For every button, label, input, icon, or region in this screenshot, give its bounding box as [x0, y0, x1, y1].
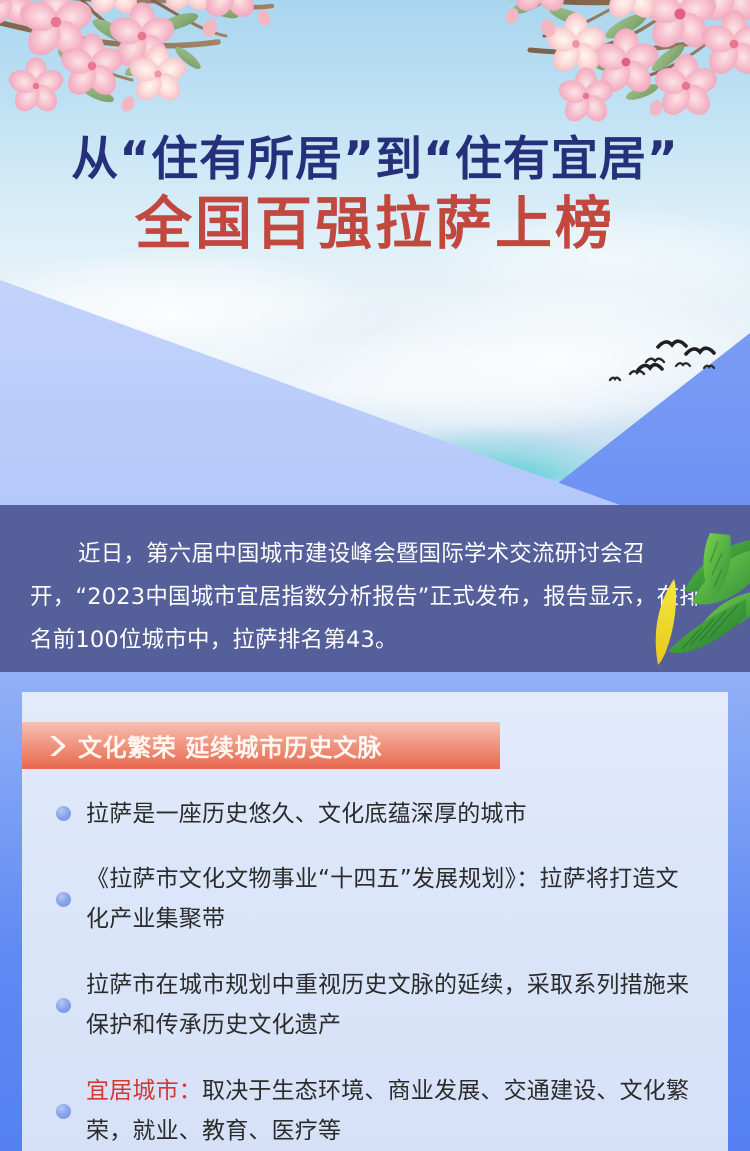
- bullet-dot-icon: [56, 806, 71, 821]
- title-line-primary: 从“住有所居”到“住有宜居”: [0, 133, 750, 187]
- infographic-page: 从“住有所居”到“住有宜居” 全国百强拉萨上榜 近日，第六届中国城市建设峰会暨国…: [0, 0, 750, 1151]
- list-item-text: 《拉萨市文化文物事业“十四五”发展规划》：拉萨将打造文化产业集聚带: [86, 859, 692, 939]
- bullet-dot-icon: [56, 892, 71, 907]
- intro-text: 近日，第六届中国城市建设峰会暨国际学术交流研讨会召开，“2023中国城市宜居指数…: [0, 505, 750, 662]
- list-item: 宜居城市：取决于生态环境、商业发展、交通建设、文化繁荣，就业、教育、医疗等: [22, 1071, 728, 1151]
- list-item-text: 宜居城市：取决于生态环境、商业发展、交通建设、文化繁荣，就业、教育、医疗等: [86, 1071, 692, 1151]
- section-banner[interactable]: 文化繁荣 延续城市历史文脉: [22, 722, 500, 769]
- intro-panel: 近日，第六届中国城市建设峰会暨国际学术交流研讨会召开，“2023中国城市宜居指数…: [0, 505, 750, 672]
- list-item: 《拉萨市文化文物事业“十四五”发展规划》：拉萨将打造文化产业集聚带: [22, 859, 728, 939]
- list-item: 拉萨市在城市规划中重视历史文脉的延续，采取系列措施来保护和传承历史文化遗产: [22, 965, 728, 1045]
- list-item-text: 拉萨是一座历史悠久、文化底蕴深厚的城市: [86, 795, 527, 833]
- hero-section: 从“住有所居”到“住有宜居” 全国百强拉萨上榜: [0, 0, 750, 505]
- section-banner-label: 文化繁荣 延续城市历史文脉: [78, 728, 382, 763]
- bullet-dot-icon: [56, 1104, 71, 1119]
- title-line-secondary: 全国百强拉萨上榜: [0, 193, 750, 257]
- page-title: 从“住有所居”到“住有宜居” 全国百强拉萨上榜: [0, 133, 750, 256]
- bullet-list: 拉萨是一座历史悠久、文化底蕴深厚的城市 《拉萨市文化文物事业“十四五”发展规划》…: [22, 795, 728, 1151]
- list-item-text: 拉萨市在城市规划中重视历史文脉的延续，采取系列措施来保护和传承历史文化遗产: [86, 965, 692, 1045]
- list-item-highlight: 宜居城市：: [86, 1078, 202, 1104]
- bullet-dot-icon: [56, 998, 71, 1013]
- flying-birds-icon: [600, 330, 740, 400]
- content-card: 文化繁荣 延续城市历史文脉 拉萨是一座历史悠久、文化底蕴深厚的城市 《拉萨市文化…: [22, 692, 728, 1151]
- chevron-right-icon: [48, 734, 67, 758]
- list-item: 拉萨是一座历史悠久、文化底蕴深厚的城市: [22, 795, 728, 833]
